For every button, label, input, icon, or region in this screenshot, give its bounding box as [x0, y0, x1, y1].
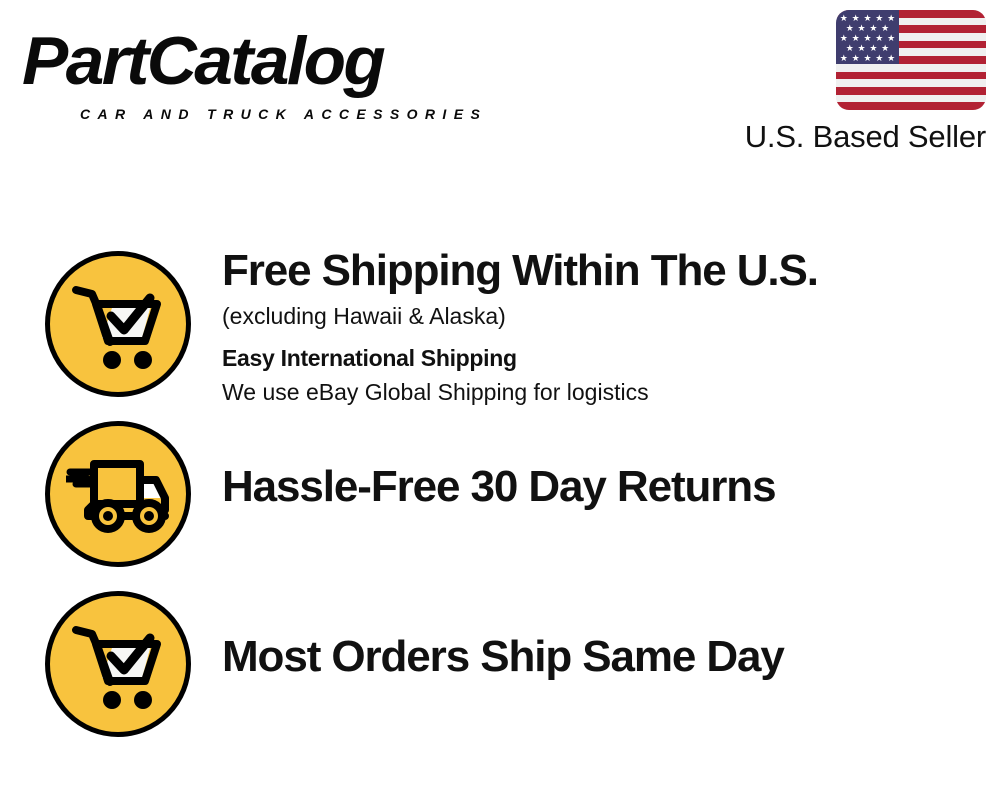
brand-tagline: CAR AND TRUCK ACCESSORIES — [80, 106, 487, 122]
us-flag-icon: ★★★★★ ★★★★ ★★★★★ ★★★★ ★★★★★ — [836, 10, 986, 110]
seller-label: U.S. Based Seller — [716, 119, 986, 155]
benefit-row: Free Shipping Within The U.S. (excluding… — [0, 238, 1000, 398]
brand-wordmark: PartCatalog — [22, 22, 383, 100]
benefit-subtext: We use eBay Global Shipping for logistic… — [222, 375, 962, 409]
brand-logo[interactable]: PartCatalog CAR AND TRUCK ACCESSORIES — [22, 22, 492, 117]
flag-canton: ★★★★★ ★★★★ ★★★★★ ★★★★ ★★★★★ — [836, 10, 899, 64]
benefit-title: Most Orders Ship Same Day — [222, 631, 962, 683]
benefit-title: Free Shipping Within The U.S. — [222, 245, 962, 299]
shopping-cart-check-icon — [45, 251, 191, 397]
delivery-truck-icon — [45, 421, 191, 567]
benefit-text: Free Shipping Within The U.S. (excluding… — [222, 245, 962, 409]
page-header: PartCatalog CAR AND TRUCK ACCESSORIES — [0, 0, 1000, 175]
benefit-text: Hassle-Free 30 Day Returns — [222, 461, 962, 513]
seller-badge: ★★★★★ ★★★★ ★★★★★ ★★★★ ★★★★★ U.S. Based S… — [716, 10, 986, 155]
shopping-cart-check-icon — [45, 591, 191, 737]
benefit-note: (excluding Hawaii & Alaska) — [222, 299, 962, 333]
benefit-subheading: Easy International Shipping — [222, 341, 962, 375]
benefit-title: Hassle-Free 30 Day Returns — [222, 461, 962, 513]
benefit-text: Most Orders Ship Same Day — [222, 631, 962, 683]
benefit-row: Most Orders Ship Same Day — [0, 578, 1000, 738]
benefit-row: Hassle-Free 30 Day Returns — [0, 408, 1000, 568]
